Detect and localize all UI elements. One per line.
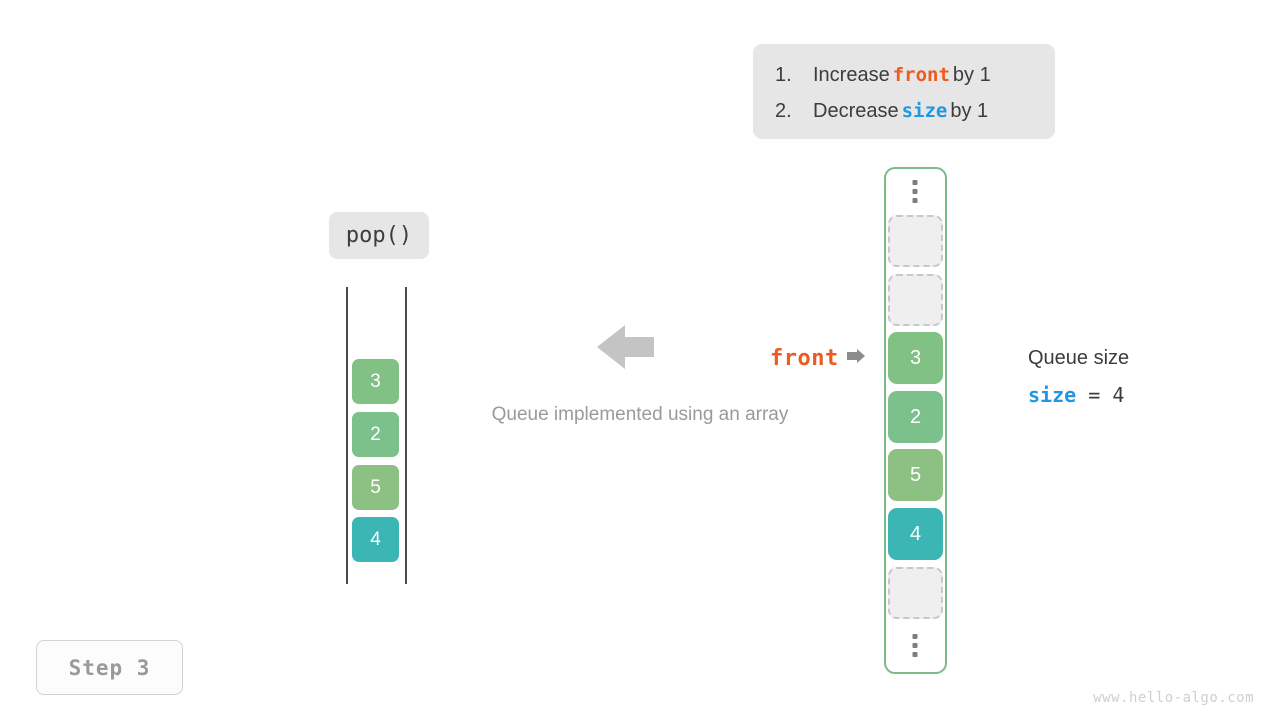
instruction-text-pre: Decrease xyxy=(813,93,899,129)
queue-size-expression: size = 4 xyxy=(1028,382,1248,408)
queue-size-info: Queue size size = 4 xyxy=(1028,344,1248,408)
popped-cell-value: 2 xyxy=(370,424,381,446)
queue-size-title: Queue size xyxy=(1028,344,1248,372)
illustration-canvas: 1. Increase front by 1 2. Decrease size … xyxy=(0,0,1280,720)
array-cell-filled: 4 xyxy=(888,508,943,560)
array-cell-empty xyxy=(888,274,943,326)
array-cell-empty xyxy=(888,567,943,619)
instruction-code-front: front xyxy=(890,57,953,93)
size-variable-name: size xyxy=(1028,383,1076,407)
array-cell-value: 4 xyxy=(910,523,921,546)
front-pointer: front xyxy=(770,344,865,372)
array-cell-value: 3 xyxy=(910,347,921,370)
popped-cell: 2 xyxy=(352,412,399,457)
instruction-number: 2. xyxy=(775,93,813,129)
array-cell-value: 5 xyxy=(910,464,921,487)
instruction-code-size: size xyxy=(899,93,951,129)
instruction-item-1: 1. Increase front by 1 xyxy=(775,57,1033,93)
vertical-ellipsis-icon-top xyxy=(913,180,918,203)
front-pointer-label: front xyxy=(770,346,839,371)
queue-wall-left xyxy=(346,287,348,584)
array-cell-empty xyxy=(888,215,943,267)
instruction-item-2: 2. Decrease size by 1 xyxy=(775,93,1033,129)
popped-queue-column: 3 2 5 4 xyxy=(345,287,409,584)
arrow-left-icon xyxy=(597,323,654,371)
diagram-caption: Queue implemented using an array xyxy=(455,404,825,426)
size-operator: = xyxy=(1088,383,1100,407)
popped-cell: 4 xyxy=(352,517,399,562)
popped-cell: 5 xyxy=(352,465,399,510)
instruction-text-post: by 1 xyxy=(953,57,991,93)
popped-cell-value: 4 xyxy=(370,529,381,551)
array-cell-filled: 3 xyxy=(888,332,943,384)
watermark: www.hello-algo.com xyxy=(1093,690,1254,706)
queue-wall-right xyxy=(405,287,407,584)
instruction-number: 1. xyxy=(775,57,813,93)
vertical-ellipsis-icon-bottom xyxy=(913,634,918,657)
array-cell-filled: 2 xyxy=(888,391,943,443)
arrow-right-icon xyxy=(847,349,865,368)
popped-cell: 3 xyxy=(352,359,399,404)
size-value: 4 xyxy=(1112,383,1124,407)
array-cell-filled: 5 xyxy=(888,449,943,501)
instruction-panel: 1. Increase front by 1 2. Decrease size … xyxy=(753,44,1055,139)
popped-cell-value: 5 xyxy=(370,477,381,499)
pop-operation-label: pop() xyxy=(329,212,429,259)
popped-cell-value: 3 xyxy=(370,371,381,393)
step-badge: Step 3 xyxy=(36,640,183,695)
instruction-text-post: by 1 xyxy=(950,93,988,129)
instruction-text-pre: Increase xyxy=(813,57,890,93)
array-cell-value: 2 xyxy=(910,406,921,429)
